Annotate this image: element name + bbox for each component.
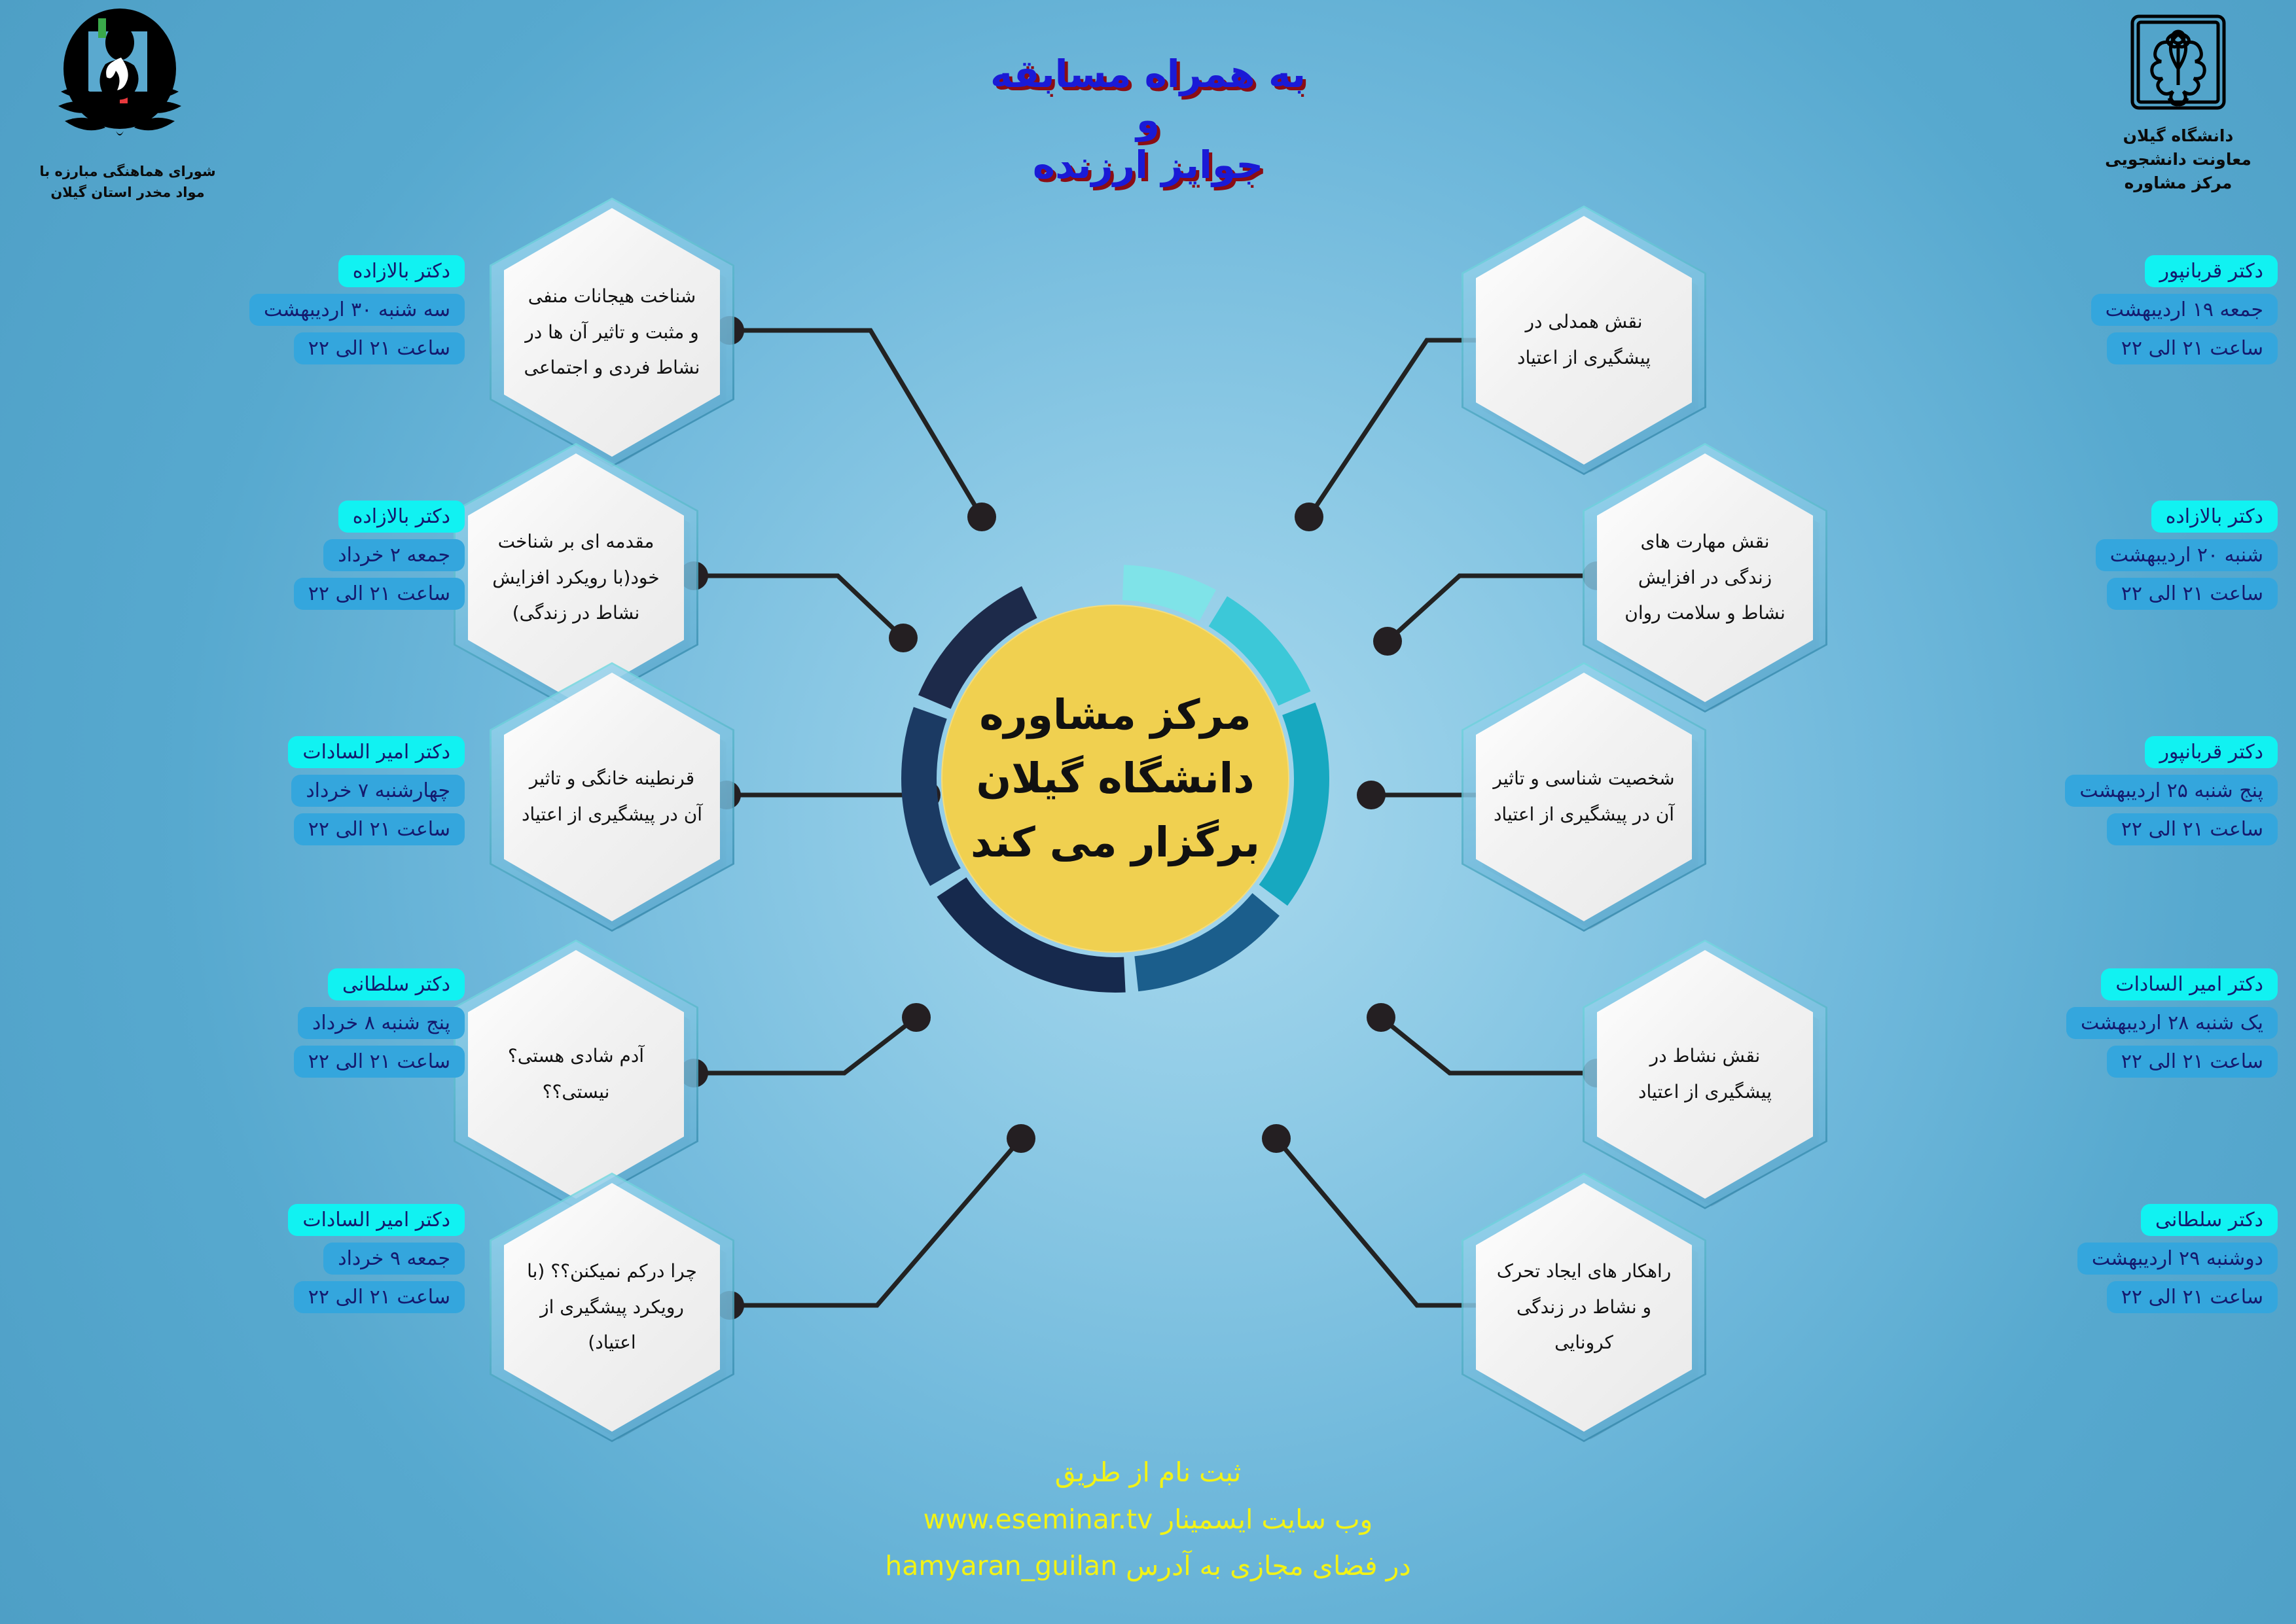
topic-title: چرا درکم نمیکنن؟؟ (با رویکرد پیشگیری از … (504, 1254, 720, 1361)
time-badge: ساعت ۲۱ الی ۲۲ (294, 578, 465, 610)
topic-hex-left-2[interactable]: مقدمه ای بر شناخت خود(با رویکرد افزایش ن… (468, 453, 684, 702)
university-caption-line3: مرکز مشاوره (2067, 172, 2289, 194)
speaker-badge: دکتر امیر السادات (288, 736, 465, 768)
topic-hex-left-3[interactable]: قرنطینه خانگی و تاثیر آن در پیشگیری از ا… (504, 673, 720, 921)
university-logo-block: دانشگاه گیلان معاونت دانشجویی مرکز مشاور… (2067, 7, 2289, 194)
top-slogan: به همراه مسابقه و جوایز ارزنده (0, 52, 2296, 187)
speaker-badge: دکتر سلطانی (328, 968, 465, 1000)
session-labels-right-1: دکتر قربانپور جمعه ۱۹ اردیبهشت ساعت ۲۱ ا… (1833, 255, 2278, 364)
speaker-badge: دکتر بالازاده (338, 501, 465, 533)
footer-line-3: در فضای مجازی به آدرس hamyaran_guilan (0, 1543, 2296, 1590)
session-labels-right-4: دکتر امیر السادات یک شنبه ۲۸ اردیبهشت سا… (1833, 968, 2278, 1078)
time-badge: ساعت ۲۱ الی ۲۲ (2107, 1281, 2278, 1313)
center-title-line2: دانشگاه گیلان (976, 754, 1254, 802)
time-badge: ساعت ۲۱ الی ۲۲ (294, 332, 465, 364)
center-title-line3: برگزار می کند (971, 819, 1260, 866)
anti-narcotics-caption-line2: مواد مخدر استان گیلان (20, 183, 236, 202)
footer-line-1: ثبت نام از طریق (0, 1449, 2296, 1496)
center-title: مرکز مشاوره دانشگاه گیلان برگزار می کند (951, 683, 1280, 875)
footer-website-url[interactable]: www.eseminar.tv (924, 1496, 1153, 1544)
time-badge: ساعت ۲۱ الی ۲۲ (2107, 813, 2278, 845)
topic-title: شناخت هیجانات منفی و مثبت و تاثیر آن ها … (504, 279, 720, 386)
university-caption-line1: دانشگاه گیلان (2067, 125, 2289, 147)
anti-narcotics-logo-block: شورای هماهنگی مبارزه با مواد مخدر استان … (20, 7, 236, 202)
session-labels-left-2: دکتر بالازاده جمعه ۲ خرداد ساعت ۲۱ الی ۲… (98, 501, 465, 610)
date-badge: دوشنبه ۲۹ اردیبهشت (2077, 1243, 2278, 1275)
date-badge: پنج شنبه ۲۵ اردیبهشت (2065, 775, 2278, 807)
topic-title: نقش مهارت های زندگی در افزایش نشاط و سلا… (1597, 524, 1813, 631)
topic-hex-left-1[interactable]: شناخت هیجانات منفی و مثبت و تاثیر آن ها … (504, 208, 720, 457)
topic-hex-left-4[interactable]: آدم شادی هستی؟ نیستی؟؟ (468, 950, 684, 1199)
date-badge: شنبه ۲۰ اردیبهشت (2096, 539, 2278, 571)
university-of-guilan-emblem-icon (2119, 7, 2237, 121)
university-caption-line2: معاونت دانشجویی (2067, 149, 2289, 171)
time-badge: ساعت ۲۱ الی ۲۲ (294, 1281, 465, 1313)
topic-title: آدم شادی هستی؟ نیستی؟؟ (468, 1038, 684, 1110)
time-badge: ساعت ۲۱ الی ۲۲ (294, 1046, 465, 1078)
time-badge: ساعت ۲۱ الی ۲۲ (2107, 1046, 2278, 1078)
date-badge: جمعه ۹ خرداد (323, 1243, 465, 1275)
date-badge: جمعه ۲ خرداد (323, 539, 465, 571)
topic-hex-right-1[interactable]: نقش همدلی در پیشگیری از اعتیاد (1476, 216, 1692, 465)
session-labels-left-1: دکتر بالازاده سه شنبه ۳۰ اردیبهشت ساعت ۲… (98, 255, 465, 364)
footer-social-label: در فضای مجازی به آدرس (1126, 1550, 1411, 1581)
footer-social-handle[interactable]: hamyaran_guilan (885, 1543, 1117, 1590)
speaker-badge: دکتر بالازاده (2151, 501, 2278, 533)
speaker-badge: دکتر قربانپور (2145, 255, 2278, 287)
speaker-badge: دکتر امیر السادات (2101, 968, 2278, 1000)
session-labels-left-3: دکتر امیر السادات چهارشنبه ۷ خرداد ساعت … (98, 736, 465, 845)
topic-hex-right-2[interactable]: نقش مهارت های زندگی در افزایش نشاط و سلا… (1597, 453, 1813, 702)
anti-narcotics-caption-line1: شورای هماهنگی مبارزه با (20, 162, 236, 181)
speaker-badge: دکتر امیر السادات (288, 1204, 465, 1236)
topic-title: قرنطینه خانگی و تاثیر آن در پیشگیری از ا… (504, 761, 720, 832)
date-badge: یک شنبه ۲۸ اردیبهشت (2066, 1007, 2278, 1039)
session-labels-right-3: دکتر قربانپور پنج شنبه ۲۵ اردیبهشت ساعت … (1833, 736, 2278, 845)
center-ring: مرکز مشاوره دانشگاه گیلان برگزار می کند (899, 563, 1331, 995)
center-disc: مرکز مشاوره دانشگاه گیلان برگزار می کند (941, 605, 1289, 953)
topic-hex-right-4[interactable]: نقش نشاط در پیشگیری از اعتیاد (1597, 950, 1813, 1199)
session-labels-right-5: دکتر سلطانی دوشنبه ۲۹ اردیبهشت ساعت ۲۱ ا… (1833, 1204, 2278, 1313)
topic-hex-left-5[interactable]: چرا درکم نمیکنن؟؟ (با رویکرد پیشگیری از … (504, 1183, 720, 1432)
topic-title: شخصیت شناسی و تاثیر آن در پیشگیری از اعت… (1476, 761, 1692, 832)
topic-hex-right-5[interactable]: راهکار های ایجاد تحرک و نشاط در زندگی کر… (1476, 1183, 1692, 1432)
slogan-line-1: به همراه مسابقه (0, 52, 2296, 96)
date-badge: جمعه ۱۹ اردیبهشت (2091, 294, 2278, 326)
footer-line-2: وب سایت ایسمینار www.eseminar.tv (0, 1496, 2296, 1544)
footer-website-label: وب سایت ایسمینار (1161, 1504, 1372, 1535)
topic-title: مقدمه ای بر شناخت خود(با رویکرد افزایش ن… (468, 524, 684, 631)
speaker-badge: دکتر سلطانی (2141, 1204, 2278, 1236)
date-badge: سه شنبه ۳۰ اردیبهشت (249, 294, 465, 326)
date-badge: چهارشنبه ۷ خرداد (291, 775, 465, 807)
center-title-line1: مرکز مشاوره (979, 691, 1251, 739)
registration-footer: ثبت نام از طریق وب سایت ایسمینار www.ese… (0, 1449, 2296, 1590)
topic-title: راهکار های ایجاد تحرک و نشاط در زندگی کر… (1476, 1254, 1692, 1361)
anti-narcotics-emblem-icon (43, 7, 213, 157)
topic-title: نقش همدلی در پیشگیری از اعتیاد (1476, 304, 1692, 376)
poster-canvas: شورای هماهنگی مبارزه با مواد مخدر استان … (0, 0, 2296, 1624)
speaker-badge: دکتر بالازاده (338, 255, 465, 287)
time-badge: ساعت ۲۱ الی ۲۲ (294, 813, 465, 845)
speaker-badge: دکتر قربانپور (2145, 736, 2278, 768)
slogan-line-3: جوایز ارزنده (0, 143, 2296, 187)
slogan-line-2: و (0, 96, 2296, 144)
time-badge: ساعت ۲۱ الی ۲۲ (2107, 578, 2278, 610)
session-labels-left-4: دکتر سلطانی پنج شنبه ۸ خرداد ساعت ۲۱ الی… (98, 968, 465, 1078)
topic-hex-right-3[interactable]: شخصیت شناسی و تاثیر آن در پیشگیری از اعت… (1476, 673, 1692, 921)
session-labels-left-5: دکتر امیر السادات جمعه ۹ خرداد ساعت ۲۱ ا… (98, 1204, 465, 1313)
time-badge: ساعت ۲۱ الی ۲۲ (2107, 332, 2278, 364)
session-labels-right-2: دکتر بالازاده شنبه ۲۰ اردیبهشت ساعت ۲۱ ا… (1833, 501, 2278, 610)
topic-title: نقش نشاط در پیشگیری از اعتیاد (1597, 1038, 1813, 1110)
date-badge: پنج شنبه ۸ خرداد (298, 1007, 465, 1039)
